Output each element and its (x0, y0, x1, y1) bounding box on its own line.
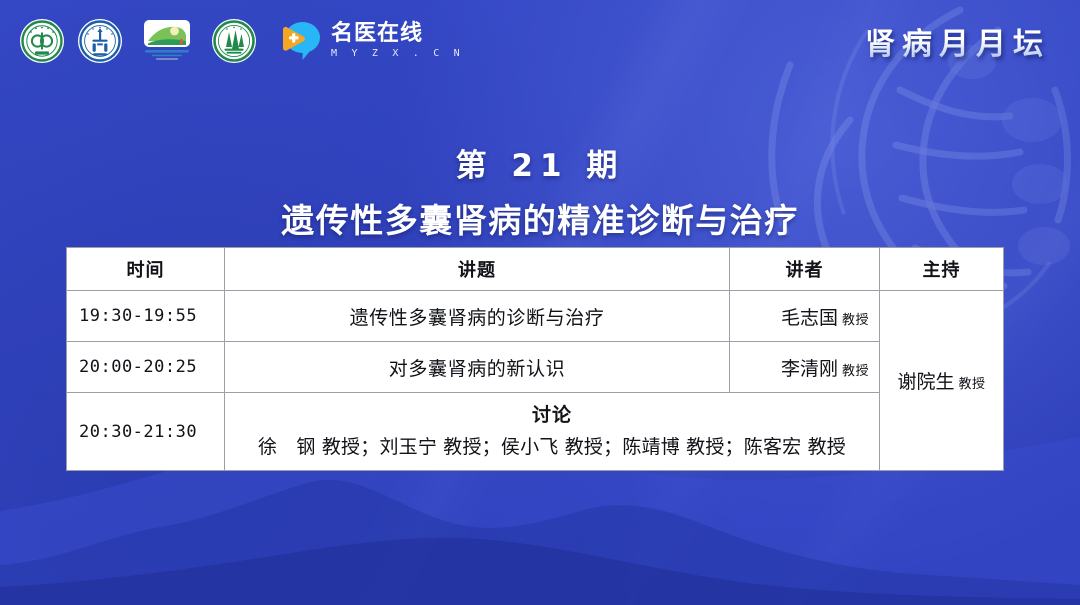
seal-logo-green-1-icon (20, 19, 64, 63)
table-row: 19:30-19:55 遗传性多囊肾病的诊断与治疗 毛志国教授 谢院生教授 (67, 291, 1004, 342)
session-speaker: 李清刚教授 (730, 342, 880, 393)
session-host: 谢院生教授 (880, 291, 1004, 471)
academy-logo-icon (136, 19, 198, 63)
column-header-host: 主持 (880, 248, 1004, 291)
schedule-table: 时间 讲题 讲者 主持 19:30-19:55 遗传性多囊肾病的诊断与治疗 毛志… (66, 247, 1004, 471)
column-header-speaker: 讲者 (730, 248, 880, 291)
speaker-name: 李清刚 (781, 358, 838, 380)
myzx-brand-logo: 名医在线 M Y Z X . C N (280, 21, 464, 61)
table-header-row: 时间 讲题 讲者 主持 (67, 248, 1004, 291)
brand-text-block: 名医在线 M Y Z X . C N (331, 23, 464, 59)
schedule-table-wrapper: 时间 讲题 讲者 主持 19:30-19:55 遗传性多囊肾病的诊断与治疗 毛志… (66, 247, 1003, 471)
session-time: 19:30-19:55 (67, 291, 225, 342)
presentation-slide: 名医在线 M Y Z X . C N 肾病月月坛 第 21 期 遗传性多囊肾病的… (0, 0, 1080, 605)
discussion-panelists: 徐 钢 教授；刘玉宁 教授；侯小飞 教授；陈靖博 教授；陈客宏 教授 (226, 434, 878, 462)
session-time: 20:30-21:30 (67, 393, 225, 471)
discussion-cell: 讨论 徐 钢 教授；刘玉宁 教授；侯小飞 教授；陈靖博 教授；陈客宏 教授 (225, 393, 880, 471)
brand-name-cn: 名医在线 (331, 23, 464, 45)
discussion-block: 讨论 徐 钢 教授；刘玉宁 教授；侯小飞 教授；陈靖博 教授；陈客宏 教授 (226, 402, 878, 461)
column-header-time: 时间 (67, 248, 225, 291)
host-name: 谢院生 (897, 371, 954, 393)
speaker-name: 毛志国 (781, 307, 838, 329)
table-row: 20:00-20:25 对多囊肾病的新认识 李清刚教授 (67, 342, 1004, 393)
play-bubble-cross-icon (280, 21, 322, 61)
session-speaker: 毛志国教授 (730, 291, 880, 342)
title-block: 第 21 期 遗传性多囊肾病的精准诊断与治疗 (0, 140, 1080, 242)
speaker-title: 教授 (842, 364, 869, 379)
brand-name-en: M Y Z X . C N (331, 49, 464, 59)
forum-title: 肾病月月坛 (865, 19, 1058, 63)
host-title: 教授 (959, 377, 986, 392)
column-header-topic: 讲题 (225, 248, 730, 291)
seal-logo-green-2-icon (212, 19, 256, 63)
page-title: 遗传性多囊肾病的精准诊断与治疗 (0, 194, 1080, 242)
issue-number: 第 21 期 (0, 140, 1080, 185)
discussion-title: 讨论 (226, 402, 878, 430)
speaker-title: 教授 (842, 313, 869, 328)
partner-logo-row: 名医在线 M Y Z X . C N (20, 19, 464, 63)
session-topic: 对多囊肾病的新认识 (225, 342, 730, 393)
session-time: 20:00-20:25 (67, 342, 225, 393)
session-topic: 遗传性多囊肾病的诊断与治疗 (225, 291, 730, 342)
seal-logo-blue-icon (78, 19, 122, 63)
slide-header: 名医在线 M Y Z X . C N 肾病月月坛 (0, 0, 1080, 82)
table-row: 20:30-21:30 讨论 徐 钢 教授；刘玉宁 教授；侯小飞 教授；陈靖博 … (67, 393, 1004, 471)
